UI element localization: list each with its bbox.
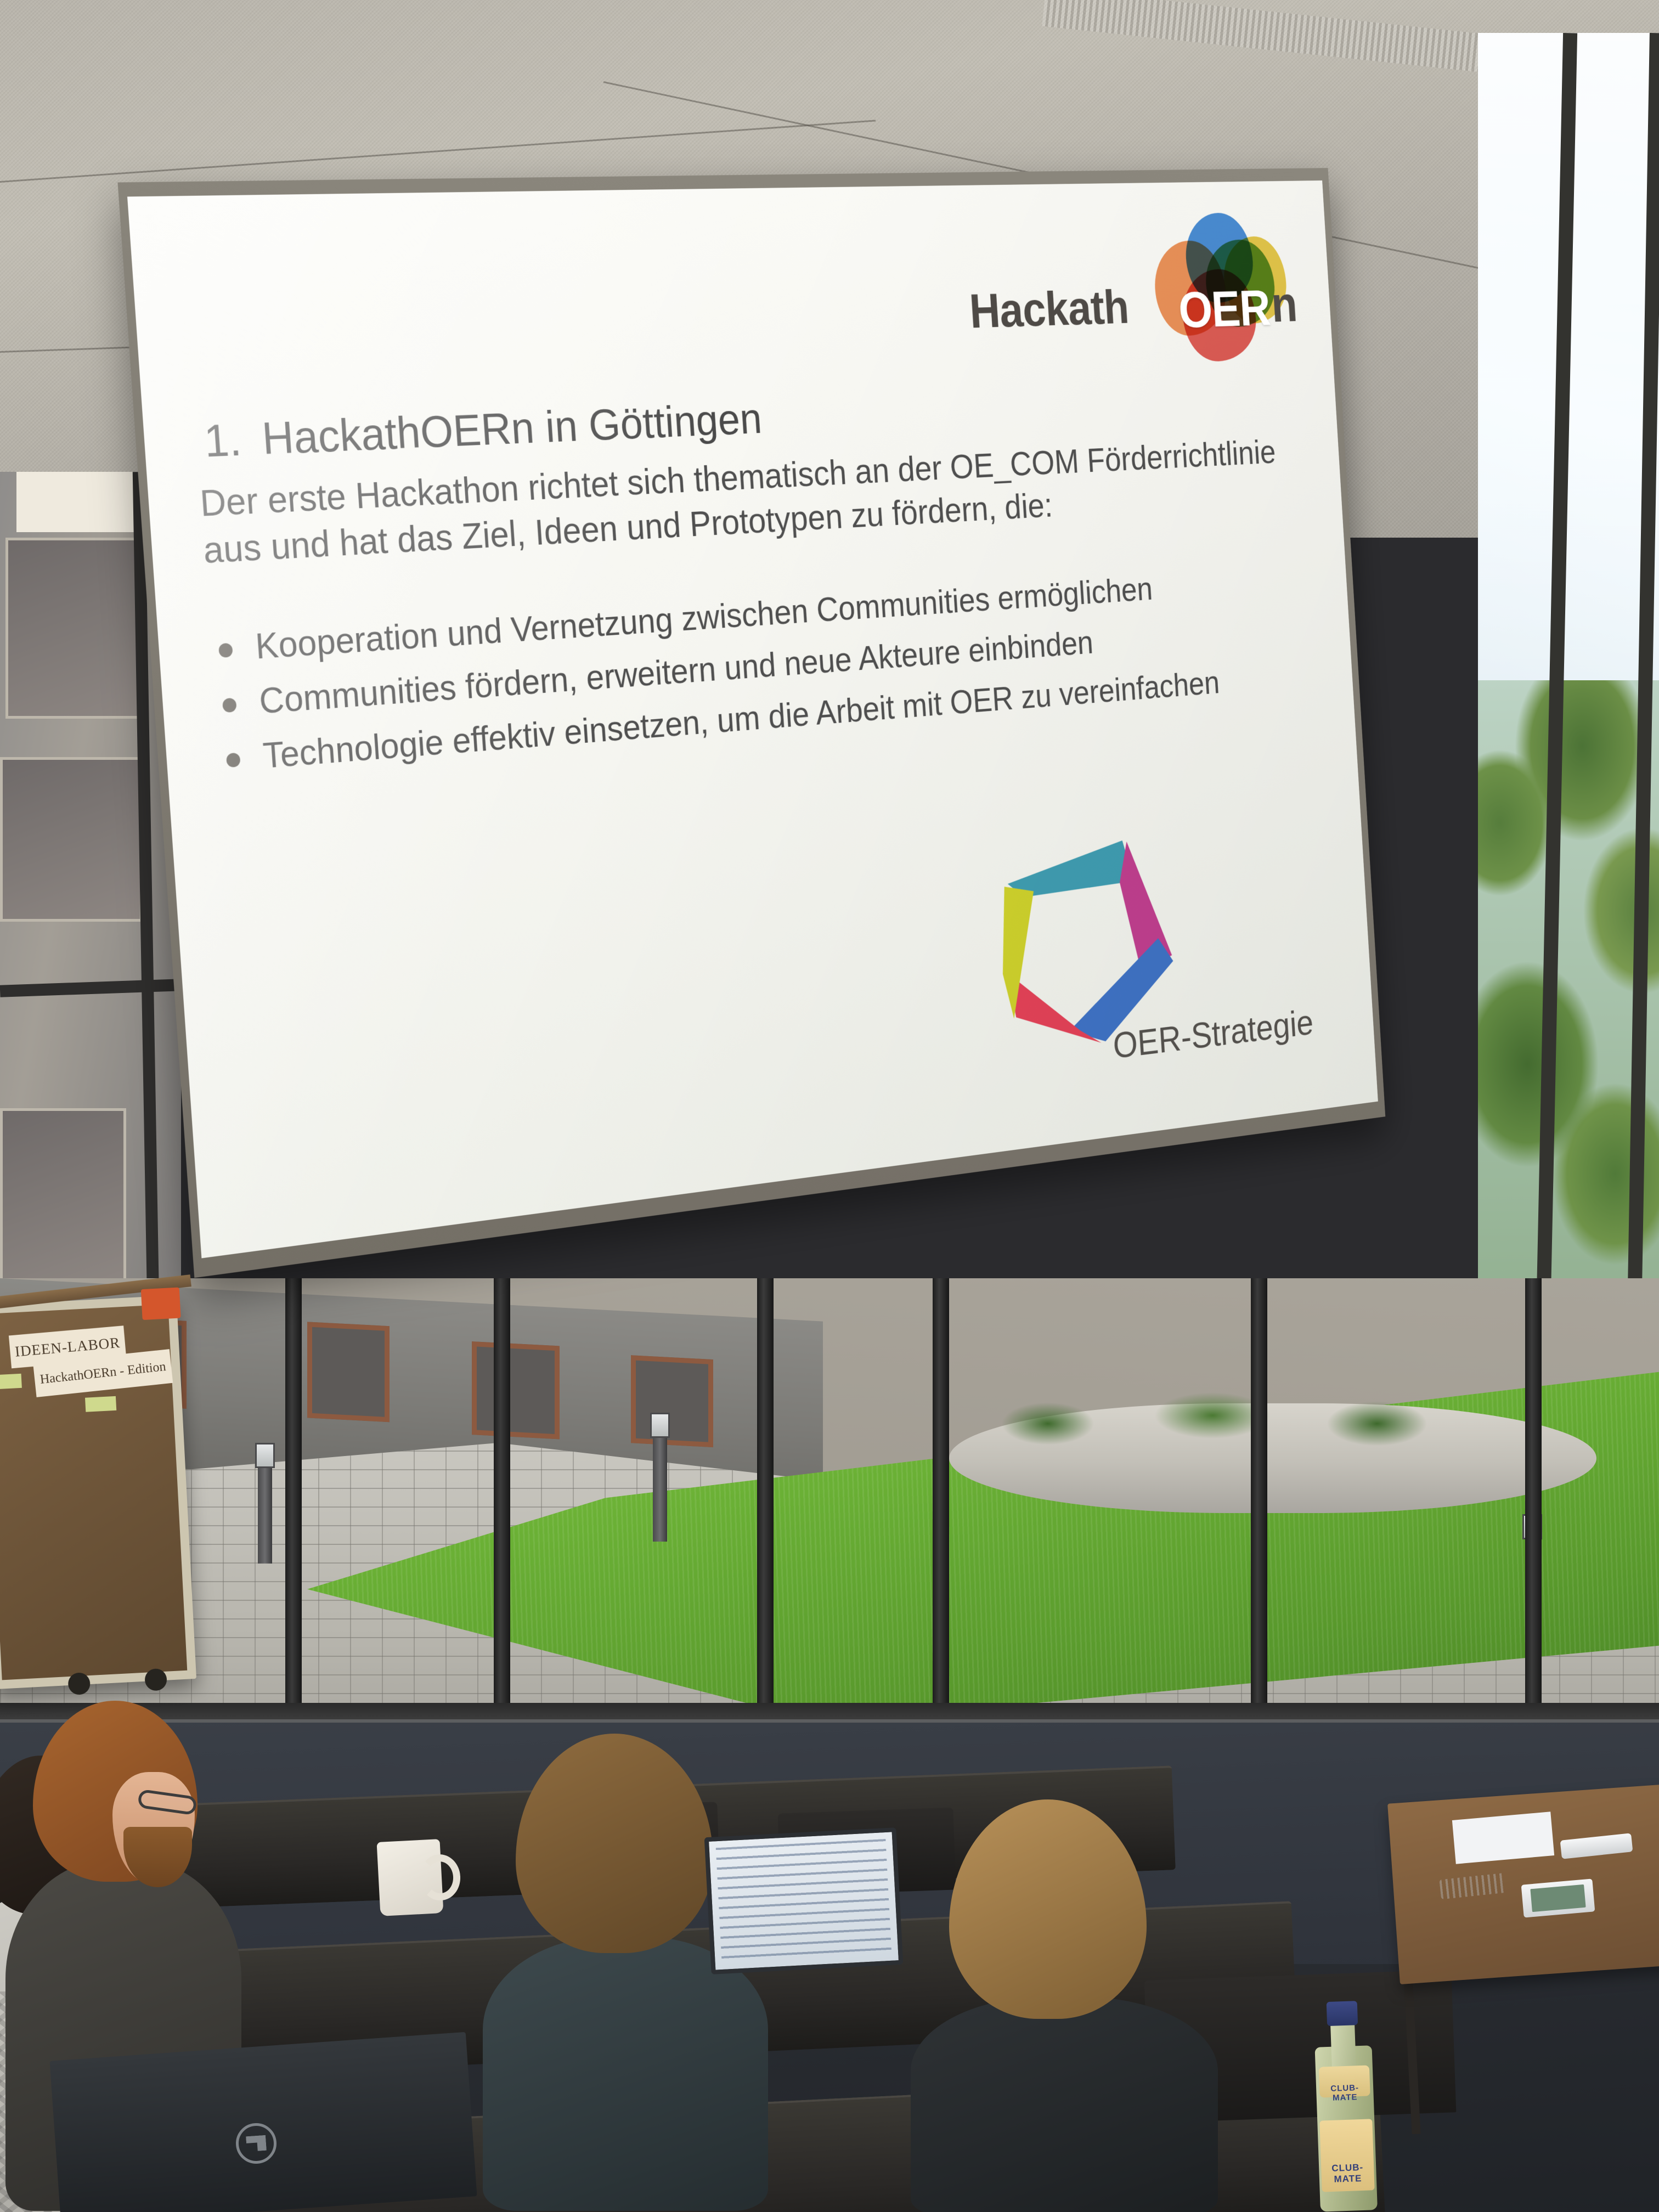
courtyard-view [0,1278,1659,1717]
bottle-neck-label-text: CLUB-MATE [1319,2083,1370,2103]
right-window [1478,33,1659,1350]
courtyard-window [631,1355,713,1447]
glass-mullion [933,1278,949,1750]
glass-mullion [1525,1278,1542,1750]
logo-word-suffix: n [1269,276,1299,334]
audience-person-body [483,1937,768,2211]
control-tablet[interactable] [1521,1878,1595,1917]
exterior-window-pane [0,757,143,922]
coffee-mug [377,1839,444,1916]
club-mate-bottle: CLUB-MATE CLUB-MATE [1313,1990,1378,2211]
glass-mullion [757,1278,774,1750]
bollard-light [258,1443,272,1564]
glass-wall [0,1278,1659,1750]
bollard-light [653,1413,667,1542]
glass-mullion [1251,1278,1267,1750]
pinboard: IDEEN-LABOR HackathOERn - Edition [0,1295,196,1689]
sky-patch [16,472,143,532]
courtyard-window [307,1322,390,1422]
sticky-note [85,1396,116,1412]
planter-shrubs [982,1385,1503,1446]
exterior-window-pane [0,1108,126,1284]
courtyard-window [472,1341,560,1439]
lecture-hall-scene: Hackath OER n 1.HackathOERn in Göttingen… [0,0,1659,2212]
window-frame-horizontal [0,979,181,997]
glass-mullion [494,1278,510,1750]
window-sill-bar [0,1703,1659,1722]
slide-surface: Hackath OER n 1.HackathOERn in Göttingen… [127,180,1378,1259]
sticky-note [0,1374,22,1390]
laptop-lid[interactable] [49,2032,477,2212]
glass-mullion [285,1278,302,1750]
logo-word-highlight: OER [1177,279,1271,340]
laptop-screen[interactable] [704,1827,904,1974]
bottle-label-text: CLUB-MATE [1321,2162,1374,2185]
paper-sheet [1452,1812,1554,1864]
bottle-neck-label: CLUB-MATE [1319,2065,1370,2097]
exterior-window-pane [5,538,143,719]
bottle-label: CLUB-MATE [1319,2119,1374,2192]
laptop-screen-content [716,1839,892,1963]
projection-screen: Hackath OER n 1.HackathOERn in Göttingen… [127,180,1378,1259]
ceiling-seam [0,120,876,183]
pinboard-clip [141,1288,181,1321]
audience-person-body [911,1997,1218,2212]
screen-glare [127,180,1378,1259]
bottle-cap [1327,2001,1358,2026]
